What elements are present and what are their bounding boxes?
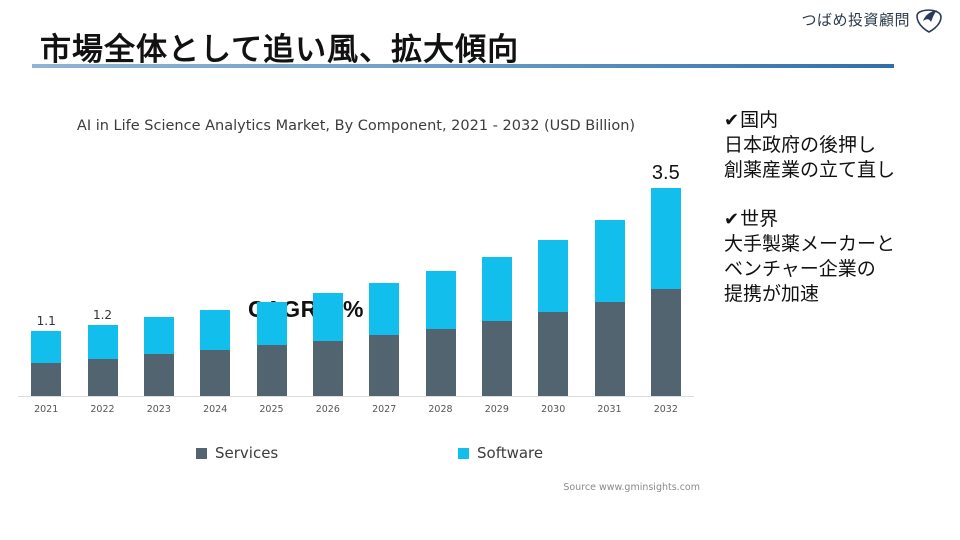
note-heading-2: ✔世界 bbox=[724, 207, 960, 232]
bar-segment-software[interactable] bbox=[426, 271, 456, 329]
note-line-2-1: 大手製薬メーカーと bbox=[724, 232, 960, 257]
note-line-1-2: 創薬産業の立て直し bbox=[724, 158, 960, 183]
bar-segment-services[interactable] bbox=[651, 289, 681, 396]
bar-segment-services[interactable] bbox=[31, 363, 61, 396]
x-tick-2021: 2021 bbox=[18, 404, 74, 415]
bar-2027[interactable] bbox=[369, 164, 399, 396]
bar-segment-software[interactable] bbox=[313, 293, 343, 341]
note-block-1: ✔国内日本政府の後押し創薬産業の立て直し bbox=[724, 108, 960, 183]
bar-2024[interactable] bbox=[200, 164, 230, 396]
x-tick-2028: 2028 bbox=[412, 404, 468, 415]
checkmark-icon: ✔ bbox=[724, 109, 739, 133]
x-tick-2022: 2022 bbox=[74, 404, 130, 415]
bar-segment-software[interactable] bbox=[369, 283, 399, 335]
bar-2026[interactable] bbox=[313, 164, 343, 396]
legend-swatch-software bbox=[458, 448, 469, 459]
bar-value-label-2032: 3.5 bbox=[636, 162, 696, 185]
brand-logo: つばめ投資顧問 bbox=[801, 4, 944, 34]
x-tick-2031: 2031 bbox=[581, 404, 637, 415]
x-tick-2024: 2024 bbox=[187, 404, 243, 415]
x-tick-2030: 2030 bbox=[525, 404, 581, 415]
x-tick-2032: 2032 bbox=[638, 404, 694, 415]
bar-segment-software[interactable] bbox=[31, 331, 61, 363]
bar-2032[interactable] bbox=[651, 164, 681, 396]
legend-label-services: Services bbox=[215, 444, 278, 462]
notes-list: ✔国内日本政府の後押し創薬産業の立て直し✔世界大手製薬メーカーとベンチャー企業の… bbox=[724, 108, 960, 332]
legend-swatch-services bbox=[196, 448, 207, 459]
bar-segment-software[interactable] bbox=[595, 220, 625, 302]
legend-item-services[interactable]: Services bbox=[196, 444, 278, 462]
bar-2021[interactable] bbox=[31, 164, 61, 396]
bar-2023[interactable] bbox=[144, 164, 174, 396]
title-underline bbox=[32, 64, 894, 68]
note-heading-text: 国内 bbox=[740, 108, 778, 133]
checkmark-icon: ✔ bbox=[724, 208, 739, 232]
bar-segment-services[interactable] bbox=[88, 359, 118, 396]
bar-segment-software[interactable] bbox=[651, 188, 681, 289]
note-block-2: ✔世界大手製薬メーカーとベンチャー企業の提携が加速 bbox=[724, 207, 960, 307]
x-tick-2027: 2027 bbox=[356, 404, 412, 415]
x-axis-line bbox=[18, 396, 694, 397]
note-line-2-3: 提携が加速 bbox=[724, 282, 960, 307]
chart-source: Source www.gminsights.com bbox=[0, 482, 700, 493]
bar-segment-services[interactable] bbox=[313, 341, 343, 396]
bar-value-label-2022: 1.2 bbox=[73, 308, 133, 322]
bar-2029[interactable] bbox=[482, 164, 512, 396]
bar-2030[interactable] bbox=[538, 164, 568, 396]
x-axis-tick-labels: 2021202220232024202520262027202820292030… bbox=[18, 400, 694, 420]
note-heading-text: 世界 bbox=[740, 207, 778, 232]
bar-segment-software[interactable] bbox=[88, 325, 118, 360]
chart-title: AI in Life Science Analytics Market, By … bbox=[0, 118, 712, 134]
x-tick-2029: 2029 bbox=[469, 404, 525, 415]
bar-segment-software[interactable] bbox=[482, 257, 512, 321]
page-title: 市場全体として追い風、拡大傾向 bbox=[40, 24, 519, 69]
brand-logo-text: つばめ投資顧問 bbox=[801, 9, 910, 30]
bar-segment-software[interactable] bbox=[538, 240, 568, 312]
bar-2028[interactable] bbox=[426, 164, 456, 396]
note-heading-1: ✔国内 bbox=[724, 108, 960, 133]
x-tick-2026: 2026 bbox=[300, 404, 356, 415]
chart-plot-area: 1.11.23.5 bbox=[18, 164, 694, 396]
x-tick-2025: 2025 bbox=[243, 404, 299, 415]
bar-segment-services[interactable] bbox=[200, 350, 230, 396]
bar-segment-software[interactable] bbox=[200, 310, 230, 350]
legend-label-software: Software bbox=[477, 444, 543, 462]
note-line-1-1: 日本政府の後押し bbox=[724, 133, 960, 158]
bar-segment-services[interactable] bbox=[144, 354, 174, 396]
swallow-bird-icon bbox=[914, 4, 944, 34]
bar-segment-software[interactable] bbox=[257, 302, 287, 345]
bar-segment-services[interactable] bbox=[482, 321, 512, 396]
bar-2031[interactable] bbox=[595, 164, 625, 396]
legend-item-software[interactable]: Software bbox=[458, 444, 543, 462]
bar-value-label-2021: 1.1 bbox=[16, 314, 76, 328]
note-line-2-2: ベンチャー企業の bbox=[724, 257, 960, 282]
bar-segment-services[interactable] bbox=[595, 302, 625, 396]
bar-segment-software[interactable] bbox=[144, 317, 174, 354]
bar-segment-services[interactable] bbox=[538, 312, 568, 396]
chart-panel: AI in Life Science Analytics Market, By … bbox=[0, 104, 712, 510]
x-tick-2023: 2023 bbox=[131, 404, 187, 415]
bar-segment-services[interactable] bbox=[426, 329, 456, 396]
bar-2022[interactable] bbox=[88, 164, 118, 396]
chart-legend: ServicesSoftware bbox=[18, 444, 694, 466]
bar-segment-services[interactable] bbox=[369, 335, 399, 396]
bar-segment-services[interactable] bbox=[257, 345, 287, 396]
bar-2025[interactable] bbox=[257, 164, 287, 396]
